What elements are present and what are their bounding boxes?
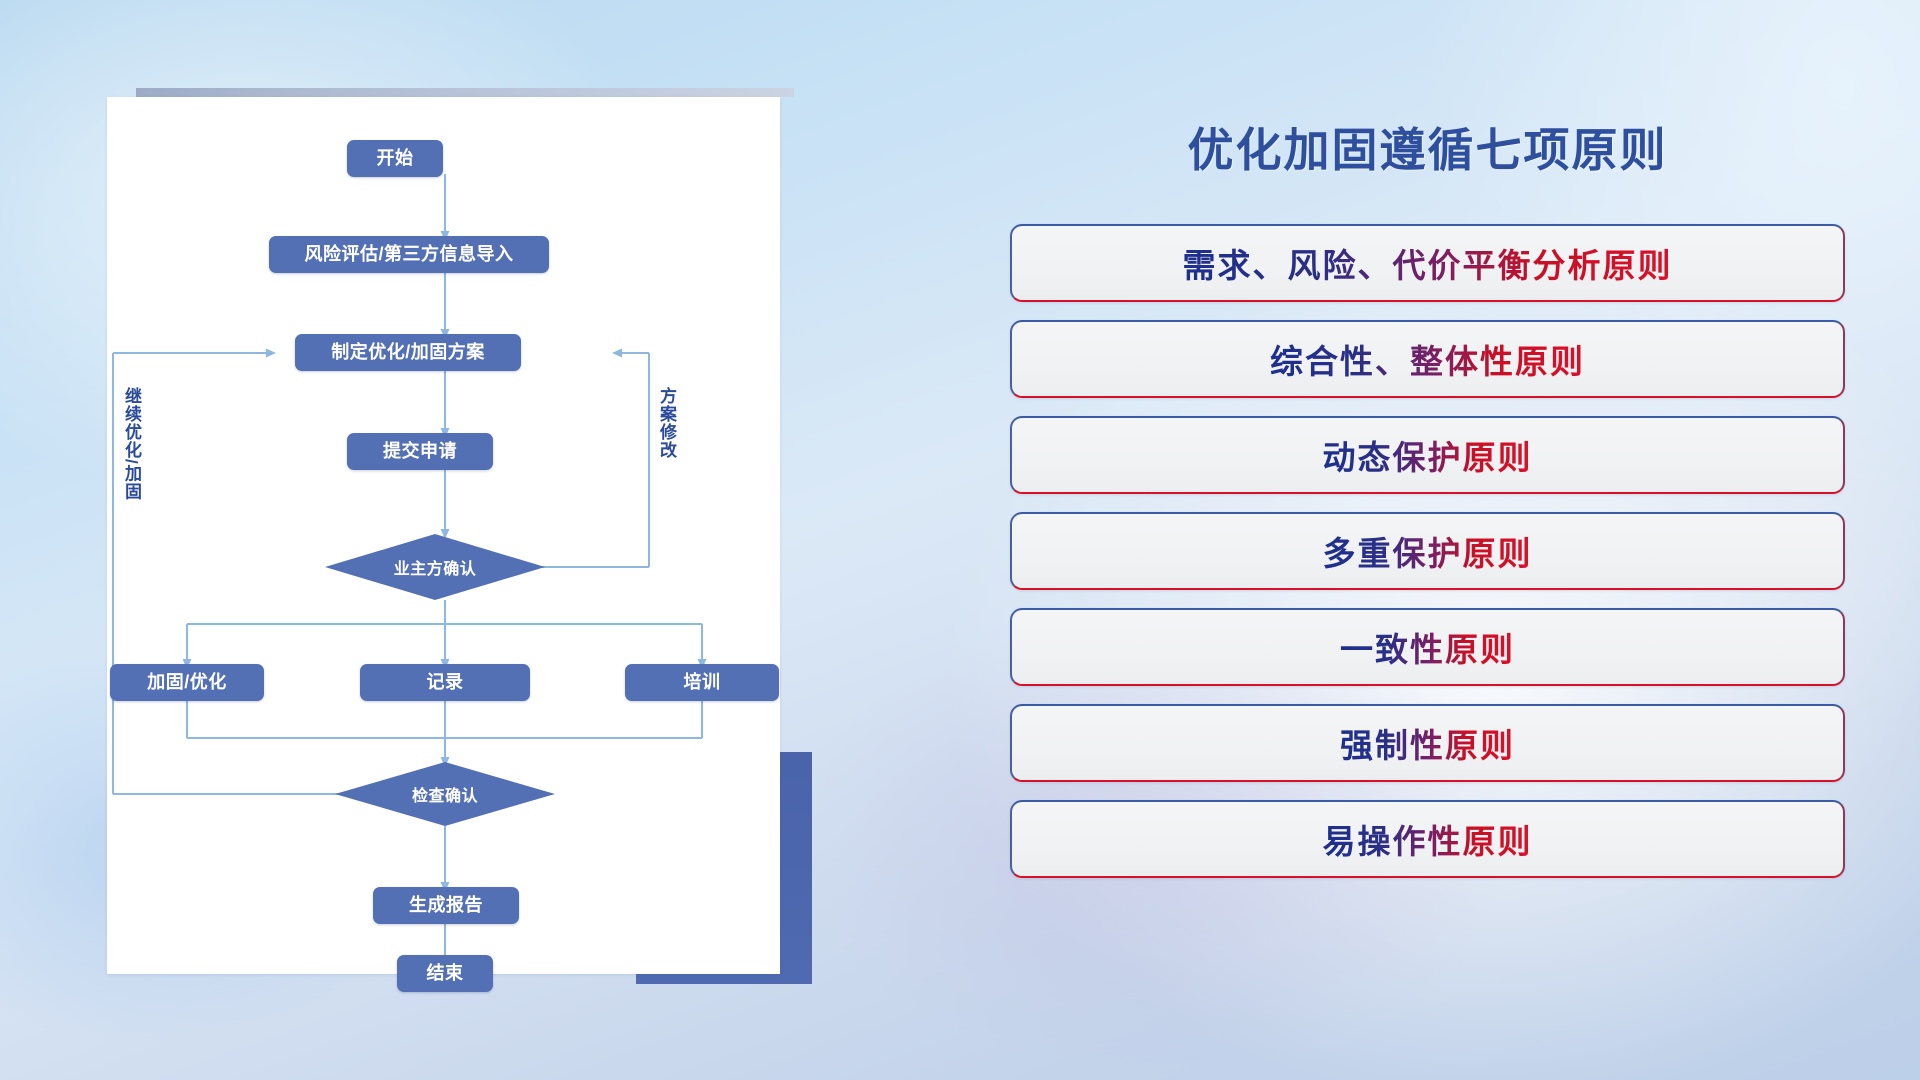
principle-item-6-label: 强制性原则 bbox=[1340, 719, 1515, 767]
principle-item-1[interactable]: 需求、风险、代价平衡分析原则 bbox=[1010, 224, 1845, 302]
flow-node-start[interactable]: 开始 bbox=[347, 140, 443, 177]
principles-panel: 优化加固遵循七项原则 需求、风险、代价平衡分析原则 综合性、整体性原则 动态保护… bbox=[1010, 100, 1845, 1000]
slide-canvas: 开始 风险评估/第三方信息导入 制定优化/加固方案 提交申请 业主方确认 加固/… bbox=[0, 0, 1920, 1080]
principle-item-7[interactable]: 易操作性原则 bbox=[1010, 800, 1845, 878]
principle-item-4[interactable]: 多重保护原则 bbox=[1010, 512, 1845, 590]
principle-item-7-label: 易操作性原则 bbox=[1323, 815, 1533, 863]
principle-item-6[interactable]: 强制性原则 bbox=[1010, 704, 1845, 782]
principle-item-4-label: 多重保护原则 bbox=[1323, 527, 1533, 575]
principle-item-1-label: 需求、风险、代价平衡分析原则 bbox=[1183, 239, 1673, 287]
flowchart: 开始 风险评估/第三方信息导入 制定优化/加固方案 提交申请 业主方确认 加固/… bbox=[107, 97, 780, 974]
flow-node-generate-report[interactable]: 生成报告 bbox=[373, 887, 519, 924]
principle-item-2-label: 综合性、整体性原则 bbox=[1270, 335, 1585, 383]
card-top-gradient-bar bbox=[136, 88, 794, 97]
panel-title: 优化加固遵循七项原则 bbox=[1010, 114, 1845, 180]
principle-item-5[interactable]: 一致性原则 bbox=[1010, 608, 1845, 686]
edge-label-continue-optimize: 继续优化/加固 bbox=[123, 387, 140, 501]
principle-item-2[interactable]: 综合性、整体性原则 bbox=[1010, 320, 1845, 398]
flow-node-reinforce-optimize[interactable]: 加固/优化 bbox=[110, 664, 264, 701]
principles-list: 需求、风险、代价平衡分析原则 综合性、整体性原则 动态保护原则 多重保护原则 一… bbox=[1010, 224, 1845, 878]
flow-node-end[interactable]: 结束 bbox=[397, 955, 493, 992]
flow-node-owner-confirm-label: 业主方确认 bbox=[394, 555, 477, 579]
flow-node-risk-assessment[interactable]: 风险评估/第三方信息导入 bbox=[269, 236, 549, 273]
flow-node-inspection-confirm-label: 检查确认 bbox=[412, 782, 478, 806]
flow-node-make-plan[interactable]: 制定优化/加固方案 bbox=[295, 334, 521, 371]
flow-node-submit-application[interactable]: 提交申请 bbox=[347, 433, 493, 470]
flow-node-inspection-confirm[interactable]: 检查确认 bbox=[335, 762, 555, 826]
edge-label-plan-revision: 方案修改 bbox=[658, 387, 675, 459]
principle-item-3-label: 动态保护原则 bbox=[1323, 431, 1533, 479]
principle-item-3[interactable]: 动态保护原则 bbox=[1010, 416, 1845, 494]
principle-item-5-label: 一致性原则 bbox=[1340, 623, 1515, 671]
flow-node-record[interactable]: 记录 bbox=[360, 664, 530, 701]
flow-node-owner-confirm[interactable]: 业主方确认 bbox=[325, 534, 545, 600]
flow-node-training[interactable]: 培训 bbox=[625, 664, 779, 701]
